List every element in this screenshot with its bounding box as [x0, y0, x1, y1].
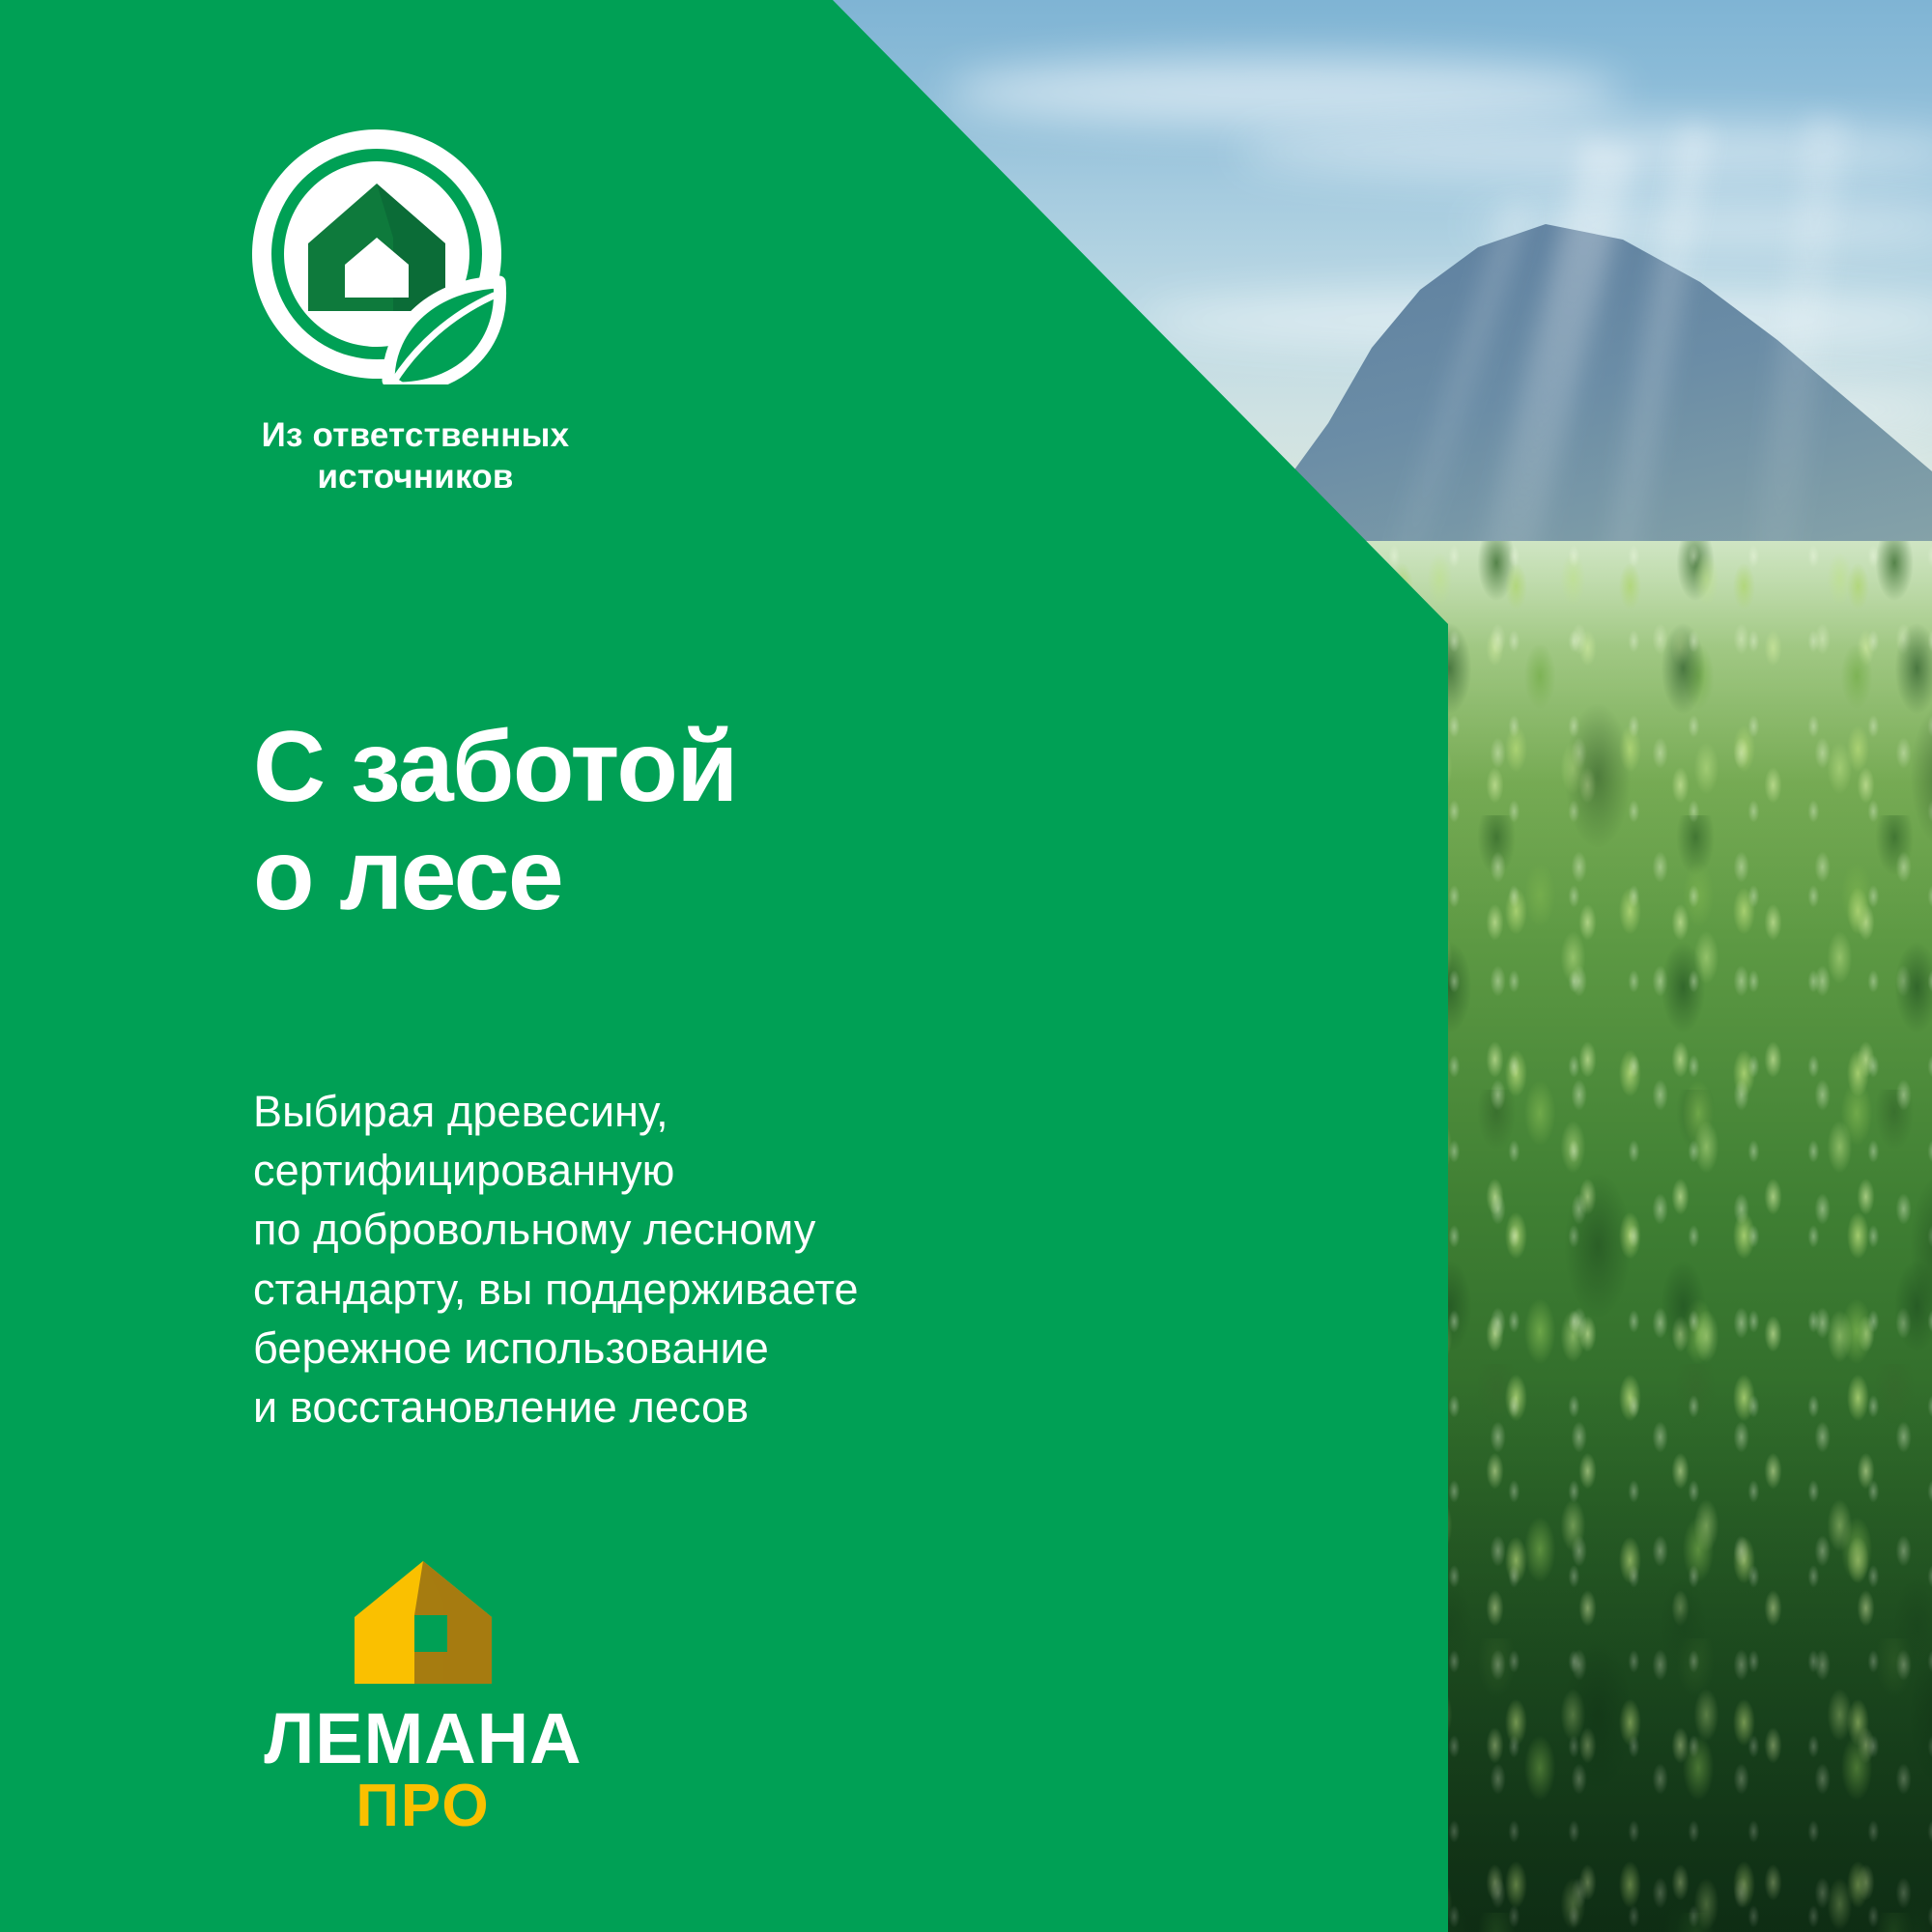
poster-canvas: Из ответственных источников С заботой о … — [0, 0, 1932, 1932]
brand-lockup: ЛЕМАНА ПРО — [249, 1557, 597, 1836]
house-in-circle-with-leaf-icon — [246, 124, 507, 384]
brand-name: ЛЕМАНА — [249, 1705, 597, 1773]
eco-caption-line-2: источников — [193, 457, 638, 498]
body-copy: Выбирая древесину, сертифицированную по … — [253, 1082, 859, 1436]
brand-subname: ПРО — [249, 1776, 597, 1836]
eco-caption-line-1: Из ответственных — [193, 415, 638, 457]
lemana-house-icon — [351, 1557, 496, 1688]
poster-content: Из ответственных источников С заботой о … — [0, 0, 1448, 1932]
page-title: С заботой о лесе — [253, 713, 737, 930]
eco-badge-caption: Из ответственных источников — [193, 415, 638, 497]
